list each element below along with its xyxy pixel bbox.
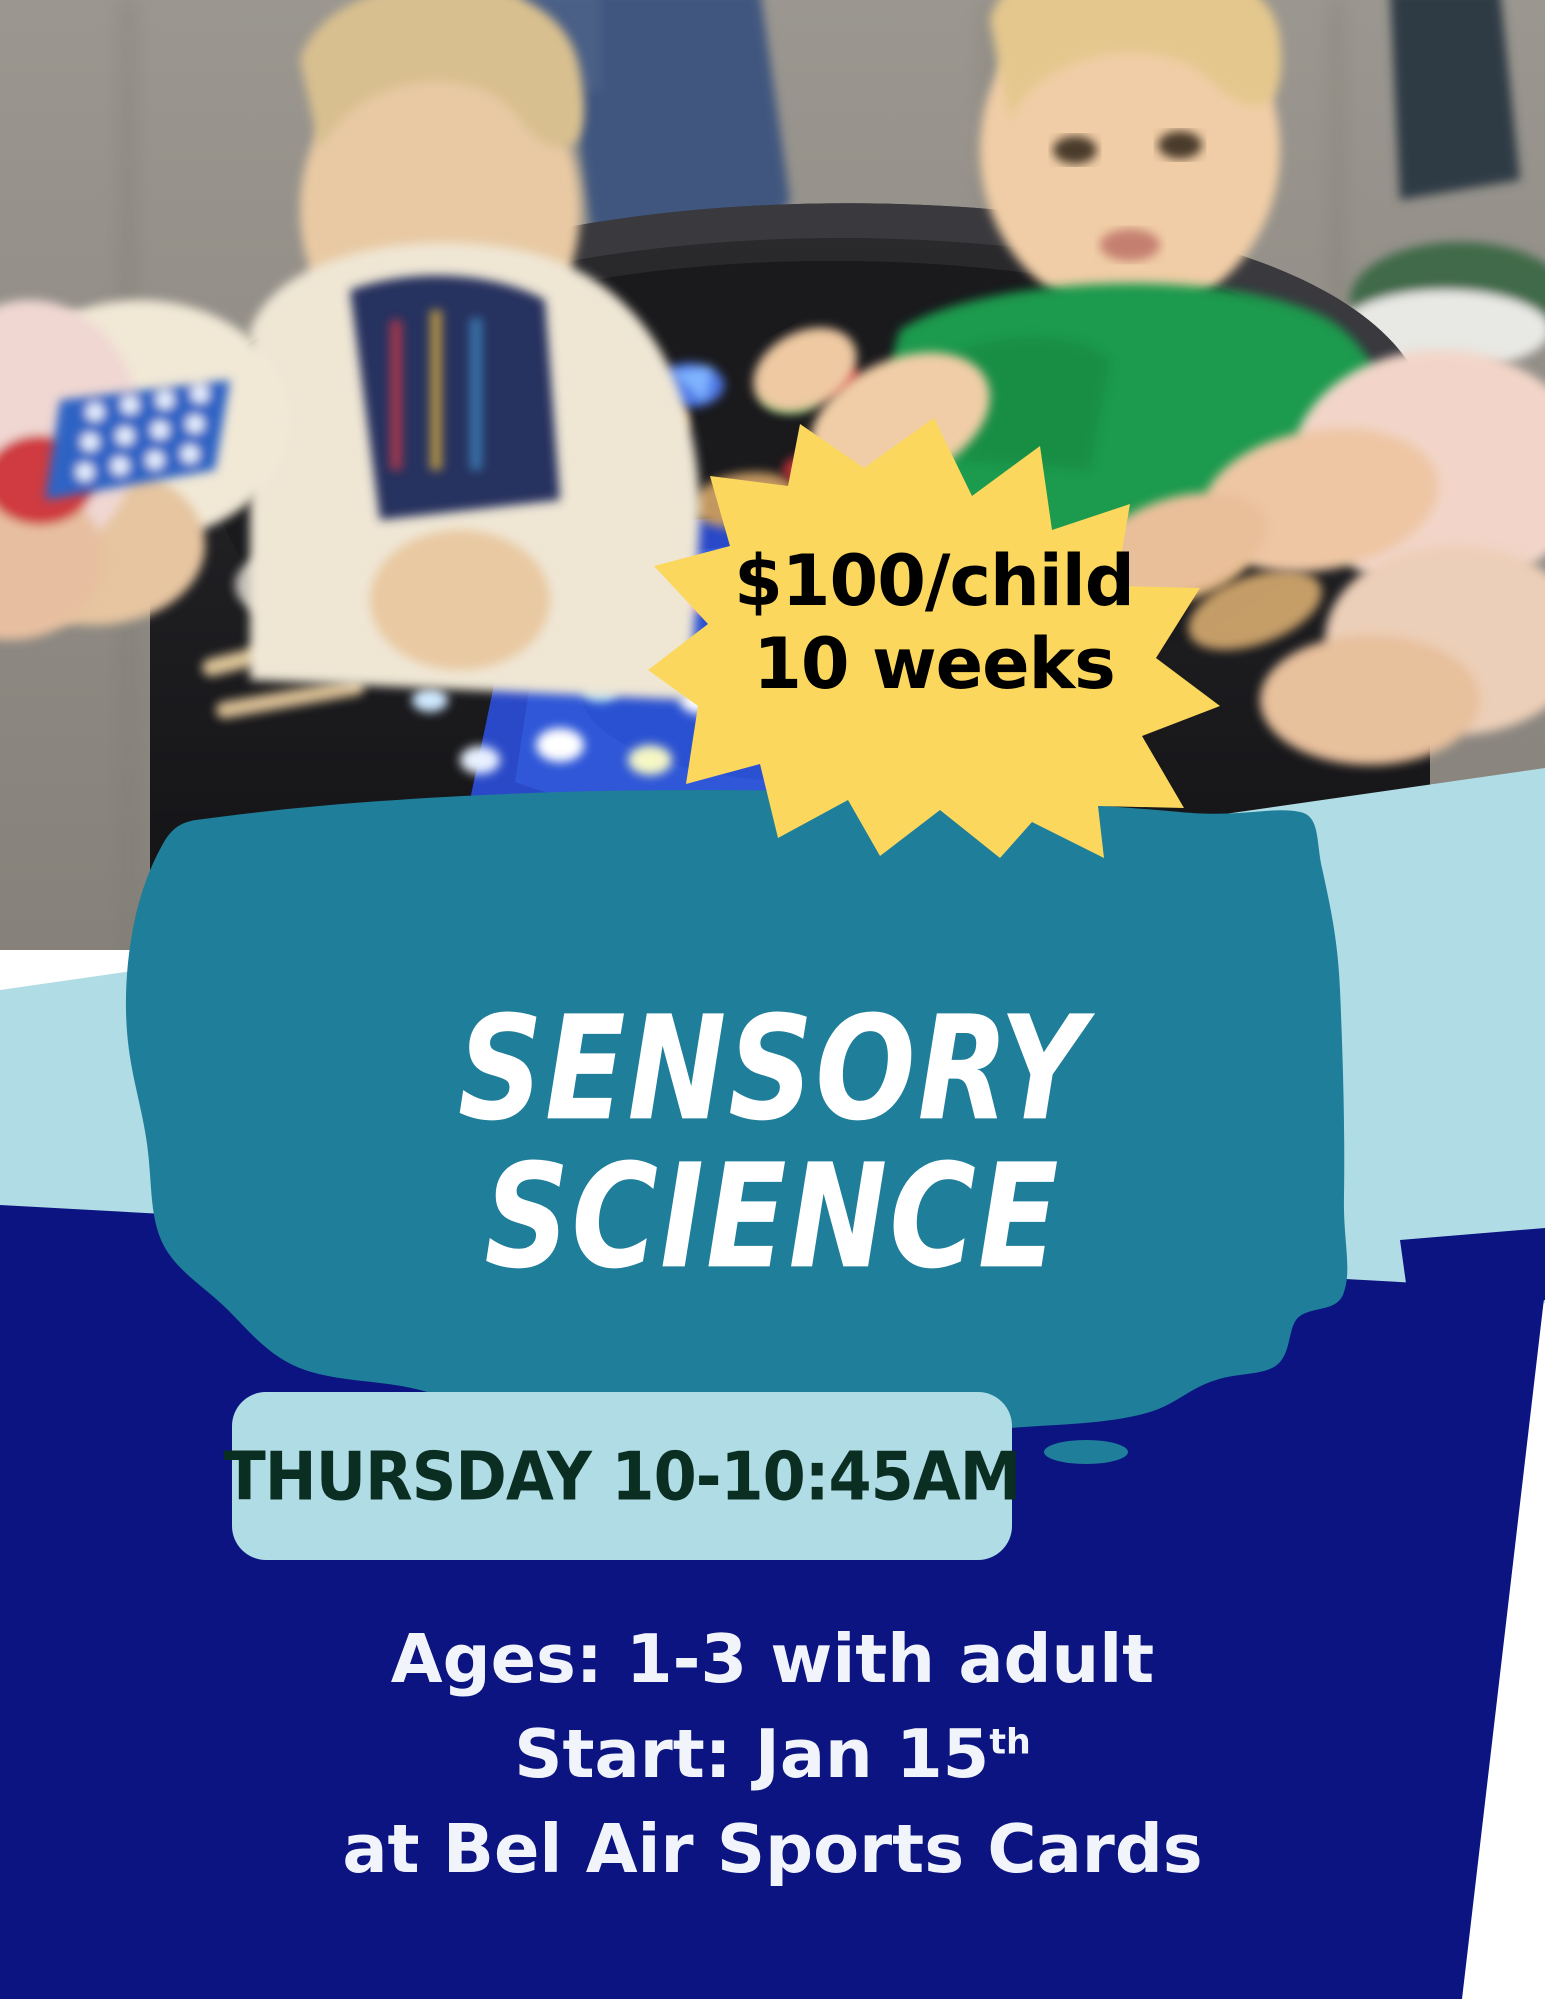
page-title: Sensory Science — [0, 1000, 1545, 1260]
title-line-2: Science — [0, 1148, 1545, 1285]
event-flyer-poster: $100/child 10 weeks Sensory Science THUR… — [0, 0, 1545, 1999]
detail-line-location: at Bel Air Sports Cards — [0, 1802, 1545, 1897]
detail-ages-text: Ages: 1-3 with adult — [391, 1620, 1154, 1698]
detail-line-start: Start: Jan 15th — [0, 1707, 1545, 1802]
detail-start-suffix: th — [989, 1723, 1030, 1763]
badge-duration: 10 weeks — [648, 623, 1220, 706]
schedule-text: THURSDAY 10-10:45AM — [224, 1437, 1021, 1516]
detail-start-text: Start: Jan 15 — [514, 1715, 989, 1793]
badge-text: $100/child 10 weeks — [648, 540, 1220, 705]
schedule-badge: THURSDAY 10-10:45AM — [232, 1392, 1012, 1560]
title-line-1: Sensory — [0, 1000, 1545, 1137]
details-block: Ages: 1-3 with adult Start: Jan 15th at … — [0, 1612, 1545, 1897]
detail-line-ages: Ages: 1-3 with adult — [0, 1612, 1545, 1707]
badge-price: $100/child — [648, 540, 1220, 623]
detail-location-text: at Bel Air Sports Cards — [342, 1810, 1202, 1888]
